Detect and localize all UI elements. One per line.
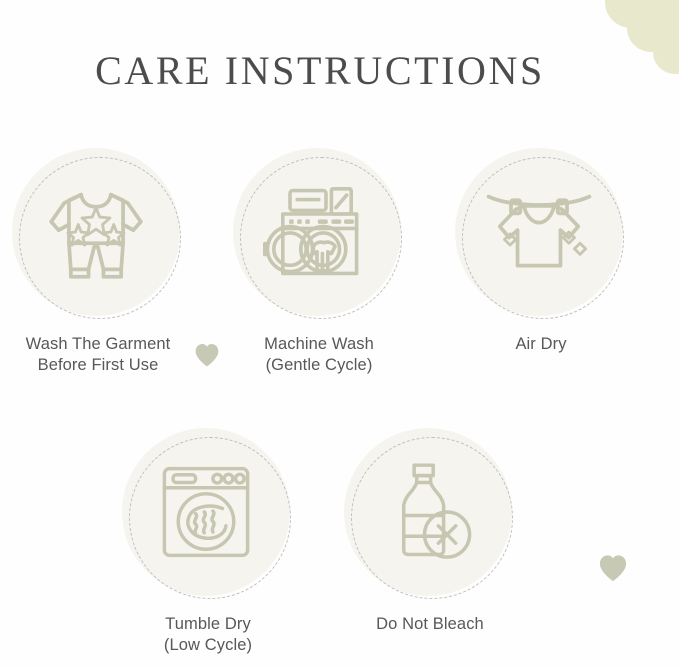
care-item-label: Tumble Dry (Low Cycle) — [113, 614, 303, 656]
page-title: CARE INSTRUCTIONS — [0, 47, 640, 94]
care-item-label: Do Not Bleach — [335, 614, 525, 635]
heart-icon — [598, 552, 628, 584]
icon-circle — [12, 148, 184, 320]
care-item-label-line-1: Wash The Garment — [3, 334, 193, 355]
icon-circle — [233, 148, 405, 320]
care-item-label: Air Dry — [446, 334, 636, 355]
care-item-label-line-2: (Gentle Cycle) — [224, 355, 414, 376]
care-item-wash-before-first-use: Wash The Garment Before First Use — [3, 148, 193, 376]
care-item-air-dry: Air Dry — [446, 148, 636, 355]
heart-icon — [194, 342, 220, 368]
care-item-tumble-dry-low: Tumble Dry (Low Cycle) — [113, 428, 303, 656]
care-item-machine-wash-gentle: Machine Wash (Gentle Cycle) — [224, 148, 414, 376]
care-item-label-line-1: Air Dry — [446, 334, 636, 355]
care-instructions-page: CARE INSTRUCTIONS — [0, 0, 679, 667]
care-item-label: Wash The Garment Before First Use — [3, 334, 193, 376]
care-item-do-not-bleach: Do Not Bleach — [335, 428, 525, 635]
care-item-label-line-2: (Low Cycle) — [113, 635, 303, 656]
care-item-label-line-1: Tumble Dry — [113, 614, 303, 635]
tshirt-clothesline-icon — [455, 148, 623, 316]
baby-onesie-stars-icon — [12, 148, 180, 316]
care-item-label: Machine Wash (Gentle Cycle) — [224, 334, 414, 376]
bleach-bottle-no-icon — [344, 428, 512, 596]
icon-circle — [122, 428, 294, 600]
tumble-dryer-heat-icon — [122, 428, 290, 596]
care-item-label-line-2: Before First Use — [3, 355, 193, 376]
care-item-label-line-1: Do Not Bleach — [335, 614, 525, 635]
washing-machine-clothes-icon — [233, 148, 401, 316]
icon-circle — [344, 428, 516, 600]
care-item-label-line-1: Machine Wash — [224, 334, 414, 355]
icon-circle — [455, 148, 627, 320]
